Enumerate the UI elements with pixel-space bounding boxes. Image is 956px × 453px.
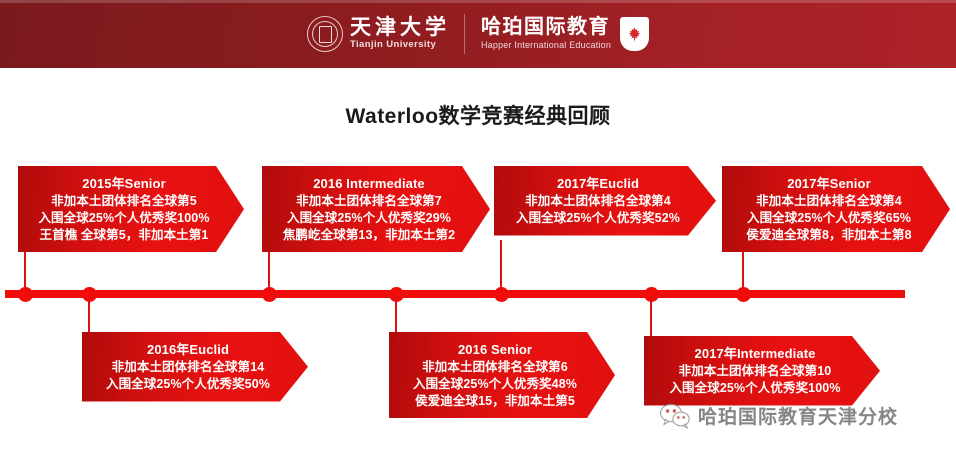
timeline-connector xyxy=(268,252,270,290)
timeline-card[interactable]: 2016 Senior 非加本土团体排名全球第6 入围全球25%个人优秀奖48%… xyxy=(389,332,615,418)
page-title: Waterloo数学竞赛经典回顾 xyxy=(0,100,956,130)
brand-lockup-row: 天津大学 Tianjin University 哈珀国际教育 Happer In… xyxy=(307,11,649,57)
card-heading: 2017年Euclid xyxy=(510,175,686,192)
card-detail-line: 入围全球25%个人优秀奖100% xyxy=(660,380,850,397)
card-heading: 2015年Senior xyxy=(34,175,214,192)
card-detail-line: 入围全球25%个人优秀奖50% xyxy=(98,376,278,393)
slide-root: 天津大学 Tianjin University 哈珀国际教育 Happer In… xyxy=(0,0,956,453)
wechat-watermark: 哈珀国际教育天津分校 xyxy=(660,402,898,429)
tianjin-university-name-cn: 天津大学 xyxy=(350,16,450,38)
timeline-card[interactable]: 2016 Intermediate 非加本土团体排名全球第7 入围全球25%个人… xyxy=(262,166,490,252)
timeline-card[interactable]: 2015年Senior 非加本土团体排名全球第5 入围全球25%个人优秀奖100… xyxy=(18,166,244,252)
card-detail-line: 入围全球25%个人优秀奖65% xyxy=(738,210,920,227)
timeline-connector xyxy=(742,248,744,290)
card-detail-line: 入围全球25%个人优秀奖52% xyxy=(510,210,686,227)
card-detail-line: 非加本土团体排名全球第5 xyxy=(34,193,214,210)
timeline-card[interactable]: 2017年Intermediate 非加本土团体排名全球第10 入围全球25%个… xyxy=(644,336,880,406)
card-detail-line: 侯爱迪全球第8，非加本土第8 xyxy=(738,227,920,244)
card-detail-line: 非加本土团体排名全球第4 xyxy=(738,193,920,210)
timeline-card[interactable]: 2017年Euclid 非加本土团体排名全球第4 入围全球25%个人优秀奖52% xyxy=(494,166,716,236)
university-seal-icon xyxy=(307,16,343,52)
tianjin-university-logo: 天津大学 Tianjin University xyxy=(307,16,464,52)
card-detail-line: 入围全球25%个人优秀奖48% xyxy=(405,376,585,393)
timeline-card[interactable]: 2017年Senior 非加本土团体排名全球第4 入围全球25%个人优秀奖65%… xyxy=(722,166,950,252)
card-detail-line: 非加本土团体排名全球第10 xyxy=(660,363,850,380)
timeline-card[interactable]: 2016年Euclid 非加本土团体排名全球第14 入围全球25%个人优秀奖50… xyxy=(82,332,308,402)
timeline-axis xyxy=(5,290,905,298)
happer-name-en: Happer International Education xyxy=(481,40,611,52)
happer-logo: 哈珀国际教育 Happer International Education xyxy=(465,16,649,52)
timeline-connector xyxy=(395,296,397,332)
timeline-connector xyxy=(88,296,90,332)
card-detail-line: 非加本土团体排名全球第6 xyxy=(405,359,585,376)
card-heading: 2016 Intermediate xyxy=(278,175,460,192)
card-heading: 2017年Intermediate xyxy=(660,345,850,362)
card-detail-line: 焦鹏屹全球第13，非加本土第2 xyxy=(278,227,460,244)
tianjin-university-text: 天津大学 Tianjin University xyxy=(350,16,450,51)
card-detail-line: 非加本土团体排名全球第7 xyxy=(278,193,460,210)
card-heading: 2017年Senior xyxy=(738,175,920,192)
happer-text: 哈珀国际教育 Happer International Education xyxy=(481,16,611,52)
card-detail-line: 入围全球25%个人优秀奖29% xyxy=(278,210,460,227)
card-detail-line: 王首樵 全球第5，非加本土第1 xyxy=(34,227,214,244)
maple-leaf-shield-icon xyxy=(620,17,649,51)
card-detail-line: 非加本土团体排名全球第14 xyxy=(98,359,278,376)
card-detail-line: 非加本土团体排名全球第4 xyxy=(510,193,686,210)
card-heading: 2016 Senior xyxy=(405,341,585,358)
timeline-connector xyxy=(650,296,652,336)
card-heading: 2016年Euclid xyxy=(98,341,278,358)
header-bar: 天津大学 Tianjin University 哈珀国际教育 Happer In… xyxy=(0,0,956,68)
card-detail-line: 入围全球25%个人优秀奖100% xyxy=(34,210,214,227)
tianjin-university-name-en: Tianjin University xyxy=(350,39,450,51)
wechat-icon xyxy=(660,403,690,429)
timeline-connector xyxy=(500,240,502,290)
watermark-label: 哈珀国际教育天津分校 xyxy=(698,402,898,429)
happer-name-cn: 哈珀国际教育 xyxy=(481,16,611,38)
card-detail-line: 侯爱迪全球15，非加本土第5 xyxy=(405,393,585,410)
timeline-connector xyxy=(24,248,26,290)
